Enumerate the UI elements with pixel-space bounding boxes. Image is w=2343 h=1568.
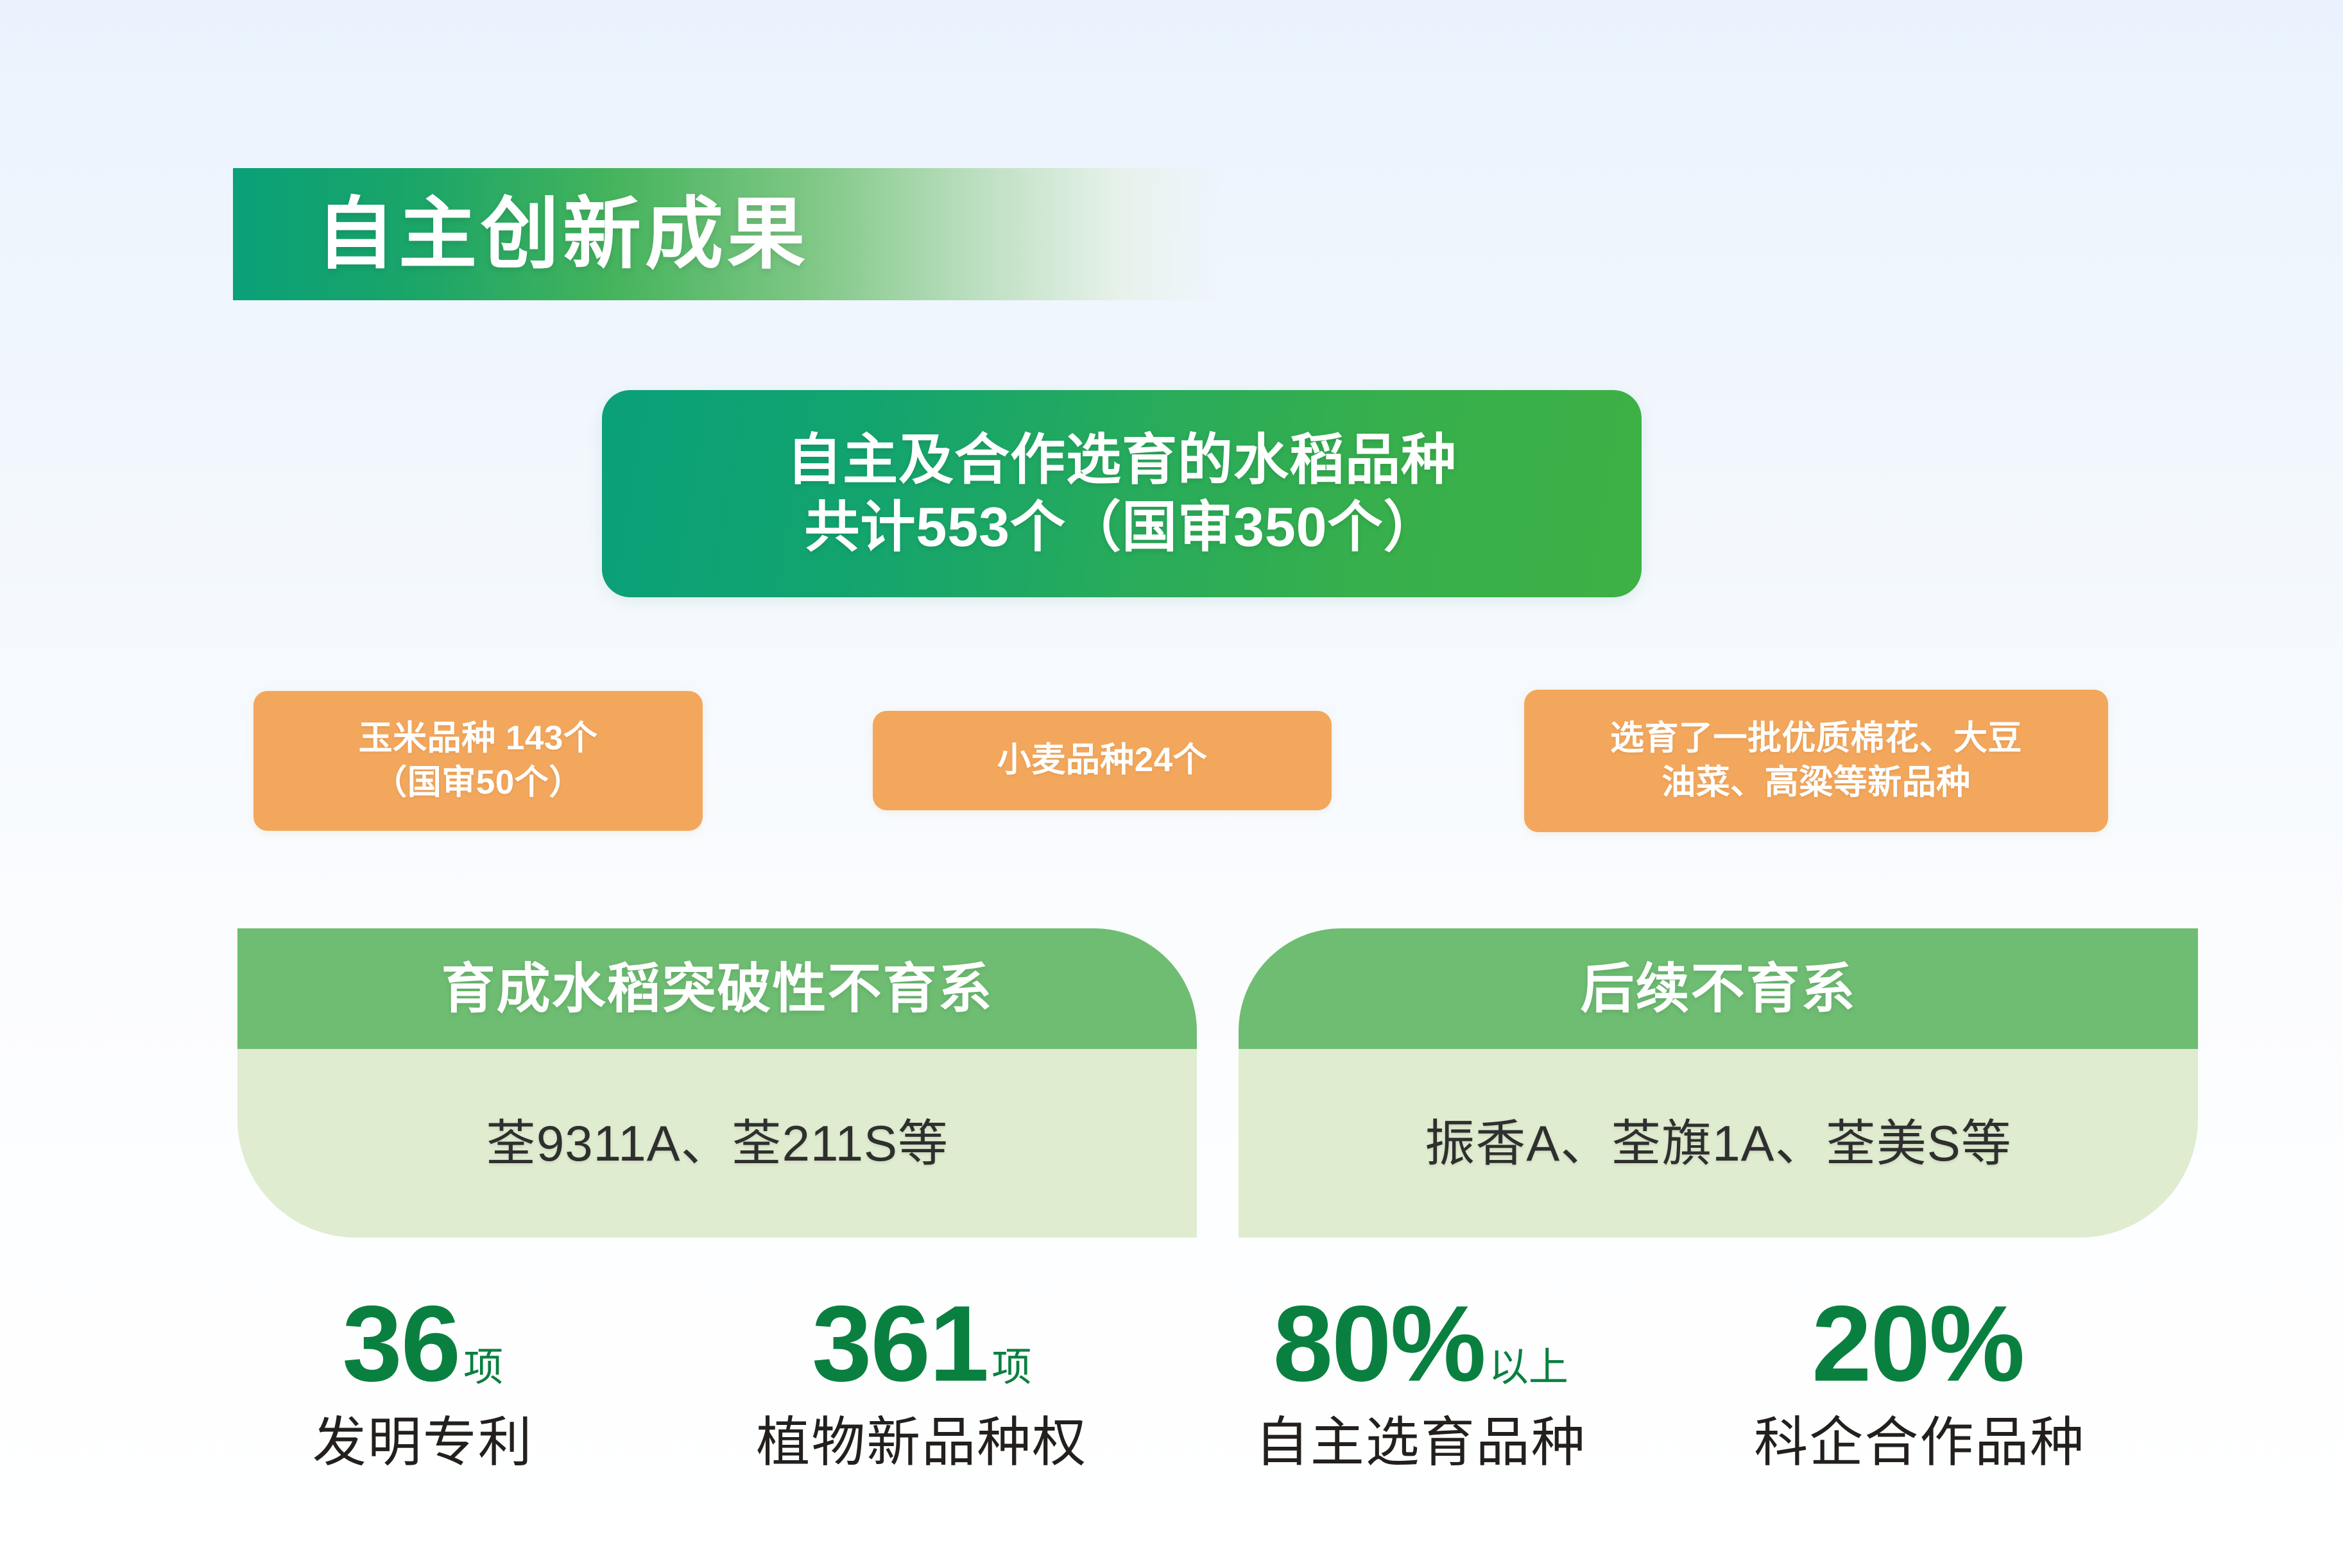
stat-plant-variety-rights: 361 项 植物新品种权 — [673, 1290, 1172, 1469]
stat-value: 20% — [1812, 1290, 2027, 1397]
hero-summary-card: 自主及合作选育的水稻品种 共计553个（国审350个） — [602, 390, 1642, 597]
panel-body-label: 荃9311A、荃211S等 — [486, 1118, 948, 1168]
panel-body-label: 振香A、荃旗1A、荃美S等 — [1425, 1118, 2011, 1168]
stat-number: 20% — [1812, 1290, 2023, 1397]
panel-header: 育成水稻突破性不育系 — [237, 928, 1197, 1049]
panel-header-label: 育成水稻突破性不育系 — [441, 962, 993, 1016]
statistics-row: 36 项 发明专利 361 项 植物新品种权 80% 以上 自主选育品种 20% — [173, 1290, 2169, 1533]
crop-box-line-2: 油菜、高粱等新品种 — [1661, 761, 1971, 805]
stat-value: 36 项 — [342, 1290, 503, 1397]
crop-box-line-1: 玉米品种 143个 — [359, 717, 598, 761]
stat-unit: 项 — [991, 1348, 1031, 1388]
page-title: 自主创新成果 — [316, 195, 809, 273]
stat-value: 80% 以上 — [1273, 1290, 1568, 1397]
stat-label: 科企合作品种 — [1754, 1415, 2085, 1469]
stat-self-bred-varieties: 80% 以上 自主选育品种 — [1171, 1290, 1670, 1469]
stat-number: 361 — [812, 1290, 988, 1397]
stat-label: 自主选育品种 — [1255, 1415, 1586, 1469]
crop-box-other: 选育了一批优质棉花、大豆 油菜、高粱等新品种 — [1524, 690, 2108, 832]
stat-value: 361 项 — [812, 1290, 1031, 1397]
stat-number: 80% — [1273, 1290, 1485, 1397]
crop-box-wheat: 小麦品种24个 — [873, 711, 1332, 810]
crop-box-maize: 玉米品种 143个 （国审50个） — [253, 691, 703, 831]
infographic-canvas: 自主创新成果 自主及合作选育的水稻品种 共计553个（国审350个） 玉米品种 … — [0, 0, 2343, 1568]
crop-box-line-1: 选育了一批优质棉花、大豆 — [1610, 717, 2022, 761]
panel-body: 振香A、荃旗1A、荃美S等 — [1239, 1049, 2198, 1238]
section-title-banner: 自主创新成果 — [233, 168, 1223, 300]
panel-breakthrough-sterile-lines: 育成水稻突破性不育系 荃9311A、荃211S等 — [237, 928, 1197, 1238]
panel-header: 后续不育系 — [1239, 928, 2198, 1049]
panel-header-label: 后续不育系 — [1580, 962, 1856, 1016]
stat-unit: 以上 — [1489, 1348, 1568, 1388]
stat-research-enterprise-varieties: 20% 科企合作品种 — [1670, 1290, 2170, 1469]
stat-number: 36 — [342, 1290, 459, 1397]
crop-box-line-1: 小麦品种24个 — [997, 738, 1207, 783]
panel-body: 荃9311A、荃211S等 — [237, 1049, 1197, 1238]
hero-line-2: 共计553个（国审350个） — [805, 494, 1439, 561]
stat-label: 植物新品种权 — [756, 1415, 1087, 1469]
stat-invention-patents: 36 项 发明专利 — [173, 1290, 673, 1469]
crop-box-line-2: （国审50个） — [373, 761, 583, 805]
stat-unit: 项 — [463, 1348, 503, 1388]
hero-line-1: 自主及合作选育的水稻品种 — [787, 427, 1457, 494]
stat-label: 发明专利 — [313, 1415, 533, 1469]
panel-subsequent-sterile-lines: 后续不育系 振香A、荃旗1A、荃美S等 — [1239, 928, 2198, 1238]
